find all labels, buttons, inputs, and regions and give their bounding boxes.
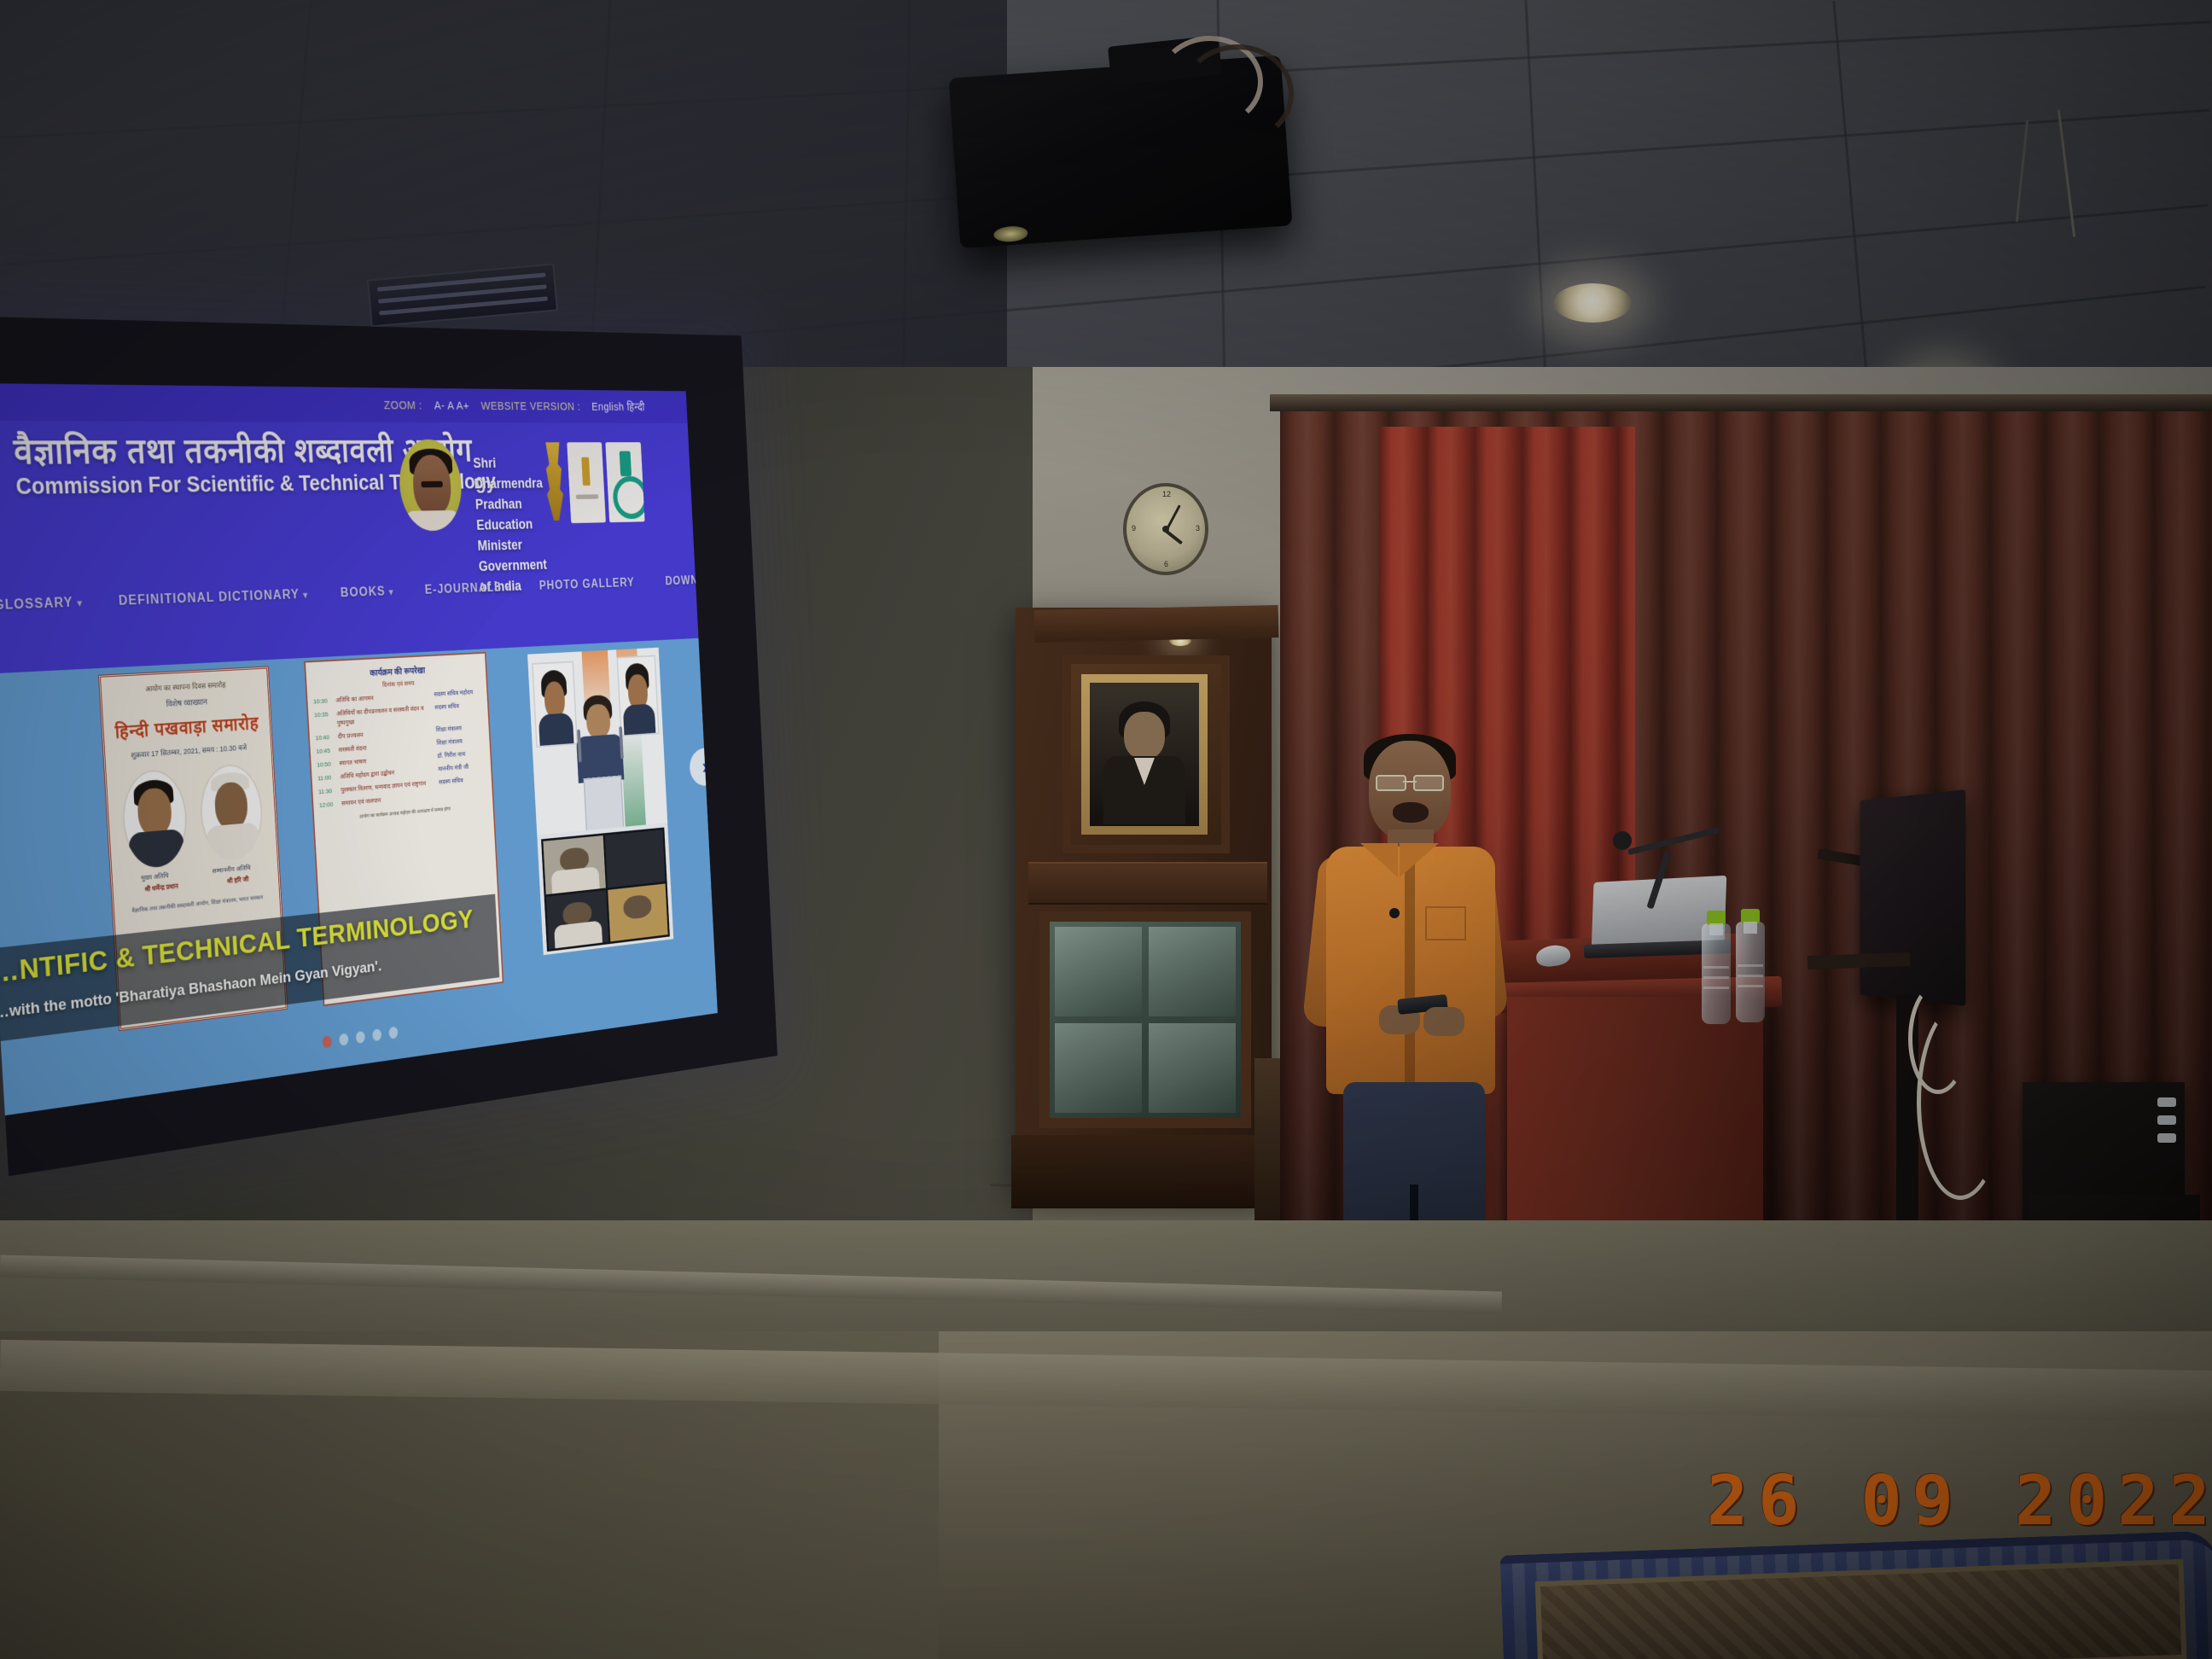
carousel-dot-3[interactable] bbox=[356, 1031, 365, 1044]
carousel-dot-5[interactable] bbox=[388, 1027, 398, 1039]
wall-clock: 12 3 6 9 bbox=[1123, 483, 1208, 575]
agenda-time: 10:50 bbox=[317, 760, 335, 771]
poster-name-left: श्री धर्मेन्द्र प्रधान bbox=[144, 882, 178, 894]
website-version-options[interactable]: English हिन्दी bbox=[591, 399, 645, 415]
lapel-microphone-icon bbox=[1389, 908, 1400, 918]
water-bottle[interactable] bbox=[1736, 922, 1765, 1022]
person-shirt bbox=[1326, 847, 1495, 1094]
nav-item-photo-gallery[interactable]: PHOTO GALLERY bbox=[538, 576, 637, 593]
poster-role-right: सम्माननीय अतिथि bbox=[212, 863, 251, 876]
eyeglasses-icon bbox=[1376, 775, 1444, 789]
agenda-who: शिक्षा मंत्रालय bbox=[436, 736, 484, 748]
agenda-time: 10:30 bbox=[313, 696, 332, 707]
vc-participant-tile bbox=[604, 829, 665, 888]
agenda-time: 10:45 bbox=[316, 746, 335, 757]
agenda-time: 10:40 bbox=[315, 732, 334, 743]
poster-portraits bbox=[113, 762, 271, 871]
website-version-label: WEBSITE VERSION : bbox=[480, 399, 580, 413]
amplifier-knobs[interactable] bbox=[2157, 1097, 2176, 1143]
vc-main-tile bbox=[527, 648, 667, 835]
cabinet-drawers[interactable] bbox=[1028, 862, 1267, 905]
framed-portrait bbox=[1081, 674, 1208, 835]
person-mouth bbox=[1393, 802, 1429, 823]
carpet-inner-field bbox=[1535, 1559, 2187, 1659]
agenda-time: 11:30 bbox=[318, 786, 337, 797]
nav-item-definitional-dictionary[interactable]: DEFINITIONAL DICTIONARY▾ bbox=[118, 588, 308, 609]
minister-title: Education Minister bbox=[476, 514, 546, 556]
curtain-rod bbox=[1270, 394, 2212, 411]
agenda-time: 10:35 bbox=[314, 710, 334, 731]
cabinet-cornice bbox=[1034, 605, 1279, 643]
zoom-options[interactable]: A- A A+ bbox=[434, 399, 469, 412]
poster-name-right: श्री हरि जी bbox=[227, 875, 249, 886]
site-header: वैज्ञानिक तथा तकनीकी शब्दावली आयोग Commi… bbox=[0, 421, 694, 575]
agenda-who: डॉ. गिरीश नाथ bbox=[437, 748, 485, 761]
projector-cable bbox=[1181, 44, 1294, 143]
microphone-head-icon bbox=[1613, 831, 1632, 850]
minister-block: Shri Dharmendra Pradhan Education Minist… bbox=[397, 439, 533, 539]
poster-role-left: मुख्य अतिथि bbox=[141, 871, 169, 883]
projection-screen: ZOOM : A- A A+ WEBSITE VERSION : English… bbox=[0, 316, 777, 1176]
agenda-item: अतिथियों का दीपप्रज्वलन व सरस्वती वंदन व… bbox=[336, 703, 432, 728]
agenda-who: माननीय मंत्री जी bbox=[438, 761, 486, 774]
nav-item-books[interactable]: BOOKS▾ bbox=[341, 585, 394, 601]
agenda-who: सदस्य सचिव महोदय bbox=[434, 687, 481, 699]
minister-avatar bbox=[397, 439, 463, 532]
agenda-item: अतिथि का आगमन bbox=[335, 690, 430, 706]
video-conference-screenshot bbox=[527, 648, 673, 955]
poster-footer: वैज्ञानिक तथा तकनीकी शब्दावली आयोग, शिक्… bbox=[120, 893, 274, 917]
projected-website: ZOOM : A- A A+ WEBSITE VERSION : English… bbox=[0, 383, 718, 1115]
person-right-hand bbox=[1423, 1007, 1464, 1036]
poster-datetime: शुक्रवार 17 सितम्बर, 2021, समय : 10.30 ब… bbox=[111, 741, 265, 762]
poster-title: हिन्दी पखवाड़ा समारोह bbox=[109, 710, 265, 744]
ceiling-downlight bbox=[1553, 283, 1632, 323]
govt-logo-card bbox=[567, 442, 606, 523]
carousel-dot-4[interactable] bbox=[372, 1028, 381, 1041]
carousel-dot-1[interactable] bbox=[323, 1035, 332, 1048]
zoom-label: ZOOM : bbox=[384, 399, 423, 412]
poster-line-2: विशेष व्याख्यान bbox=[108, 692, 263, 713]
monitor-display bbox=[1860, 789, 1965, 1006]
nav-item-glossary[interactable]: GLOSSARY▾ bbox=[0, 596, 84, 614]
agenda-time: 11:00 bbox=[317, 772, 336, 783]
water-bottle[interactable] bbox=[1702, 923, 1731, 1024]
vc-participant-tile bbox=[546, 890, 608, 950]
vc-participant-tile bbox=[543, 835, 605, 894]
camera-datestamp: 26 09 2022 bbox=[1707, 1461, 2212, 1540]
azadi-amrit-mahotsav-logo bbox=[605, 442, 644, 522]
agenda-who: सदस्य सचिव bbox=[439, 774, 486, 787]
minister-name: Shri Dharmendra Pradhan bbox=[473, 453, 544, 515]
agenda-time: 12:00 bbox=[319, 800, 338, 811]
conference-hall-photo: ZOOM : A- A A+ WEBSITE VERSION : English… bbox=[0, 0, 2212, 1659]
ashoka-emblem-icon bbox=[542, 442, 568, 521]
emblem-and-logos bbox=[542, 442, 645, 531]
vc-participant-grid bbox=[541, 828, 670, 952]
agenda-who: सदस्य सचिव bbox=[434, 701, 483, 722]
poster-portrait-right bbox=[198, 762, 265, 863]
cabinet-glass-doors[interactable] bbox=[1039, 911, 1251, 1128]
vc-speaker-at-podium bbox=[568, 694, 632, 832]
cabinet-base bbox=[1011, 1135, 1276, 1208]
agenda-who: शिक्षा मंत्रालय bbox=[436, 723, 484, 736]
nav-item-e-journals[interactable]: E-JOURNALS▾ bbox=[424, 581, 509, 598]
poster-portrait-left bbox=[119, 768, 189, 870]
agenda-who bbox=[439, 787, 487, 800]
vc-participant-tile bbox=[608, 883, 668, 941]
power-cable bbox=[1908, 983, 1968, 1094]
carousel-dots[interactable] bbox=[323, 1027, 399, 1049]
carousel-dot-2[interactable] bbox=[339, 1033, 348, 1045]
